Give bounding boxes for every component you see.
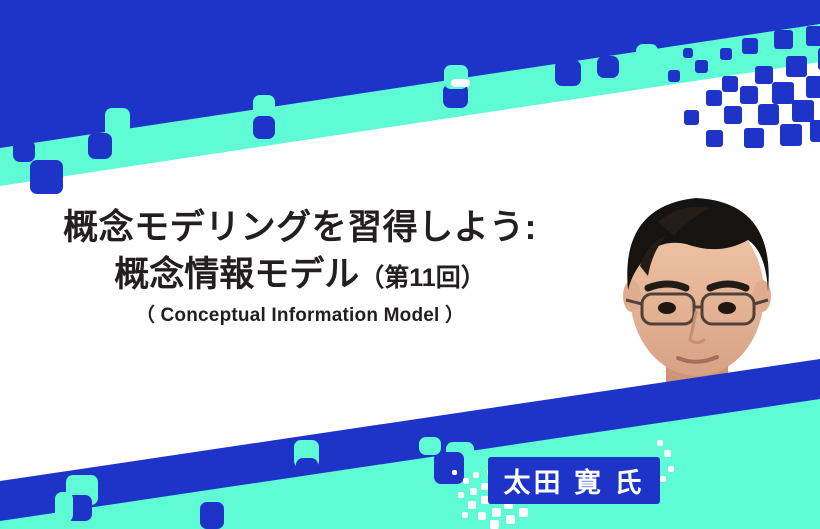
pixel-block	[806, 76, 820, 98]
pixel-block	[755, 66, 773, 84]
pixel-block-white	[463, 478, 469, 484]
pixel-block	[706, 22, 721, 37]
deco-square-blue-2	[13, 140, 35, 162]
deco-square-blue-9	[200, 502, 224, 529]
deco-square-blue-1	[88, 133, 112, 159]
pixel-block	[695, 60, 708, 73]
pixel-block	[786, 56, 807, 77]
title-episode-number: （第11回）	[359, 264, 485, 292]
pixel-block-white	[473, 472, 479, 478]
pixel-block-white	[462, 512, 468, 518]
pixel-block	[780, 124, 802, 146]
pixel-block-white	[506, 515, 515, 524]
pixel-block	[806, 26, 820, 46]
pixel-block	[722, 76, 738, 92]
title-line-3-english: （ Conceptual Information Model ）	[0, 302, 600, 330]
pixel-block	[800, 0, 820, 16]
pixel-block-white	[492, 508, 501, 517]
deco-square-mint-4	[636, 44, 658, 58]
deco-square-mint-6	[55, 492, 73, 522]
pixel-block	[774, 30, 793, 49]
pixel-block	[684, 110, 699, 125]
deco-square-blue-7	[597, 56, 619, 78]
pixel-block	[736, 14, 749, 27]
deco-square-blue-3	[30, 160, 63, 194]
deco-square-blue-4	[253, 116, 275, 139]
pixel-block-white	[458, 492, 464, 498]
banner-canvas: 概念モデリングを習得しよう: 概念情報モデル（第11回） （ Conceptua…	[0, 0, 820, 529]
pixel-block-white	[664, 450, 671, 457]
pixel-block	[742, 38, 758, 54]
pixel-block	[772, 82, 794, 104]
title-line-2: 概念情報モデル（第11回）	[0, 251, 600, 302]
pixel-block	[724, 106, 742, 124]
pixel-block-white	[481, 483, 488, 490]
pixel-block-white	[519, 508, 528, 517]
speaker-name-badge: 太田 寛 氏	[488, 457, 660, 504]
pixel-block	[683, 48, 693, 58]
pixel-block	[792, 100, 814, 122]
pixel-block-white	[490, 520, 499, 529]
deco-square-blue-10	[296, 458, 318, 474]
pixel-block-white	[478, 512, 486, 520]
pixel-block	[770, 6, 787, 23]
title-line-1: 概念モデリングを習得しよう:	[0, 205, 600, 251]
pixel-block	[810, 120, 820, 142]
pixel-block	[758, 104, 779, 125]
pixel-block-white	[660, 476, 666, 482]
pixel-block	[740, 86, 758, 104]
deco-square-mint-10	[419, 437, 441, 455]
pixel-block	[720, 48, 732, 60]
deco-square-blue-6	[555, 60, 581, 86]
pixel-block-white	[452, 470, 457, 475]
deco-notch-white-1	[451, 79, 470, 87]
speaker-name-text: 太田 寛 氏	[503, 461, 644, 500]
pixel-block-white	[470, 488, 477, 495]
pixel-block-white	[468, 501, 476, 509]
banner-title-block: 概念モデリングを習得しよう: 概念情報モデル（第11回） （ Conceptua…	[0, 205, 600, 330]
pixel-block	[668, 70, 680, 82]
pixel-block-white	[668, 466, 674, 472]
pixel-block	[706, 90, 722, 106]
pixel-block-white	[657, 440, 663, 446]
title-line-2-main: 概念情報モデル	[114, 255, 359, 294]
deco-square-blue-11	[434, 452, 464, 484]
